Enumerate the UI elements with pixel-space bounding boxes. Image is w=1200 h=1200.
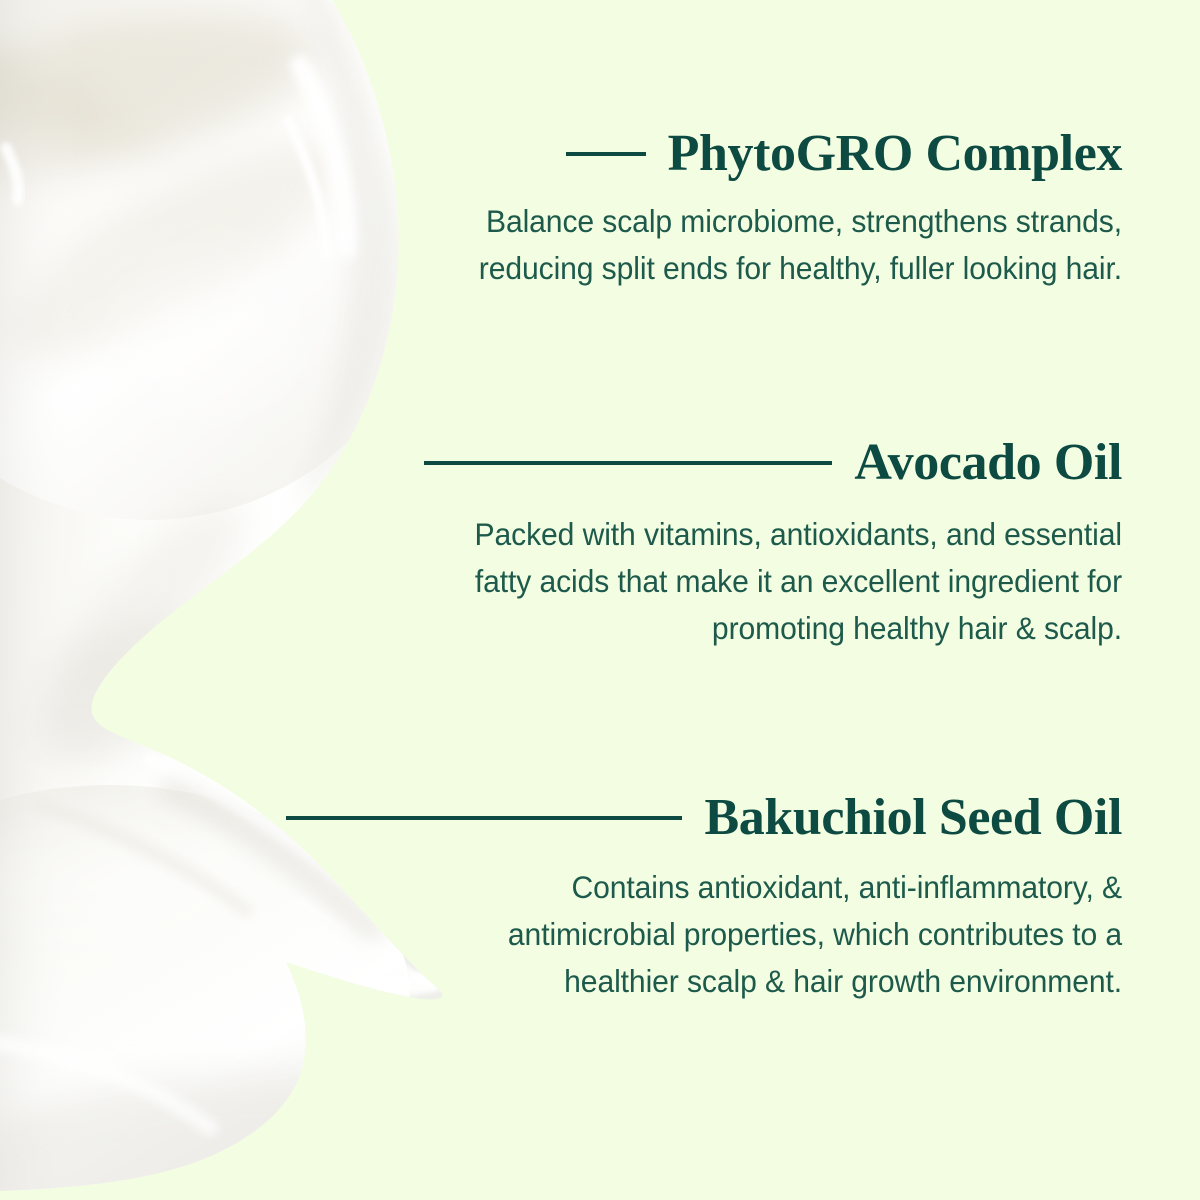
ingredient-section-avocado-oil: Avocado Oil Packed with vitamins, antiox… [422,437,1122,652]
ingredient-section-bakuchiol-seed-oil: Bakuchiol Seed Oil Contains antioxidant,… [422,792,1122,1005]
ingredient-heading: PhytoGRO Complex [668,128,1122,180]
ingredient-description: Contains antioxidant, anti-inflammatory,… [454,864,1123,1005]
ingredient-heading: Avocado Oil [854,437,1122,489]
ingredient-description: Packed with vitamins, antioxidants, and … [454,511,1123,652]
heading-row: Avocado Oil [422,437,1122,489]
ingredient-description: Balance scalp microbiome, strengthens st… [454,198,1123,292]
heading-row: Bakuchiol Seed Oil [422,792,1122,844]
ingredient-infographic: PhytoGRO Complex Balance scalp microbiom… [0,0,1200,1200]
leader-line-icon [566,152,646,156]
leader-line-icon [424,461,832,465]
ingredient-heading: Bakuchiol Seed Oil [704,792,1122,844]
ingredient-list: PhytoGRO Complex Balance scalp microbiom… [0,0,1200,1200]
ingredient-section-phytogro-complex: PhytoGRO Complex Balance scalp microbiom… [422,128,1122,292]
leader-line-icon [286,816,682,820]
heading-row: PhytoGRO Complex [422,128,1122,180]
